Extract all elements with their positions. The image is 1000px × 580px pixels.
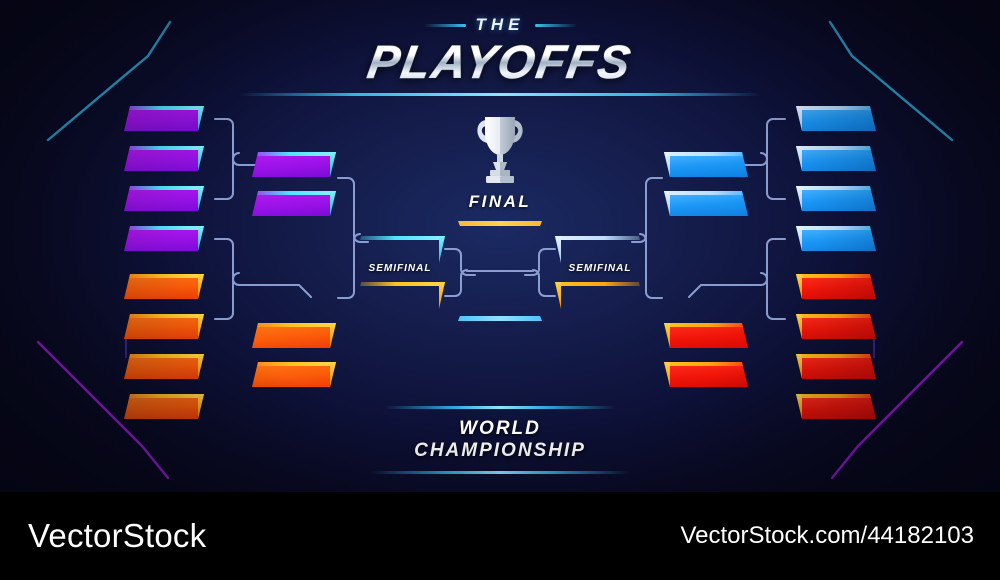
- bracket-slot-right-r1-2[interactable]: [796, 146, 876, 171]
- footer-line-2: CHAMPIONSHIP: [0, 440, 1000, 462]
- slot-highlight: [664, 191, 748, 195]
- slot-highlight: [796, 186, 876, 190]
- watermark-bar: VectorStock VectorStock.com/44182103: [0, 492, 1000, 580]
- bracket-slot-right-r1-5[interactable]: [796, 274, 876, 299]
- bracket-slot-left-r2-1[interactable]: [252, 152, 336, 177]
- slot-highlight: [124, 354, 204, 358]
- bracket-slot-left-r1-6[interactable]: [124, 314, 204, 339]
- slot-highlight: [355, 282, 445, 286]
- slot-highlight: [796, 226, 876, 230]
- bracket-slot-left-r1-4[interactable]: [124, 226, 204, 251]
- bracket-slot-left-r2-3[interactable]: [252, 323, 336, 348]
- title-pre-row: THE: [0, 14, 1000, 36]
- slot-highlight: [796, 274, 876, 278]
- watermark-brand: VectorStock: [28, 517, 206, 555]
- slot-highlight: [124, 314, 204, 318]
- slot-highlight: [458, 221, 542, 226]
- bracket-slot-right-r2-4[interactable]: [664, 362, 748, 387]
- page-title: PLAYOFFS: [0, 34, 1000, 89]
- slot-highlight: [124, 226, 204, 230]
- bracket-slot-right-r1-3[interactable]: [796, 186, 876, 211]
- bracket-slot-right-r1-4[interactable]: [796, 226, 876, 251]
- title-block: THE PLAYOFFS: [0, 14, 1000, 96]
- semifinal-left-slot-bottom[interactable]: [355, 282, 445, 309]
- slot-highlight: [124, 106, 204, 110]
- bracket-slot-left-r2-4[interactable]: [252, 362, 336, 387]
- semifinal-right-slot-top[interactable]: [555, 236, 645, 263]
- slot-highlight: [555, 282, 645, 286]
- title-rule-right: [535, 24, 577, 27]
- slot-highlight: [796, 354, 876, 358]
- slot-highlight: [124, 394, 204, 398]
- final-slot-bottom[interactable]: [458, 285, 542, 321]
- semifinal-left-slot-top[interactable]: [355, 236, 445, 263]
- final-slot-top[interactable]: [458, 221, 542, 257]
- bracket-slot-right-r1-1[interactable]: [796, 106, 876, 131]
- slot-highlight: [124, 274, 204, 278]
- slot-highlight: [252, 152, 336, 156]
- slot-highlight: [458, 316, 542, 321]
- bracket-slot-left-r2-2[interactable]: [252, 191, 336, 216]
- slot-highlight: [796, 394, 876, 398]
- bracket-slot-left-r1-3[interactable]: [124, 186, 204, 211]
- watermark-url: VectorStock.com/44182103: [680, 522, 974, 550]
- bracket-slot-right-r2-3[interactable]: [664, 323, 748, 348]
- slot-highlight: [252, 323, 336, 327]
- slot-highlight: [252, 362, 336, 366]
- slot-highlight: [796, 314, 876, 318]
- slot-highlight: [124, 146, 204, 150]
- playoffs-poster: THE PLAYOFFS: [0, 0, 1000, 492]
- slot-highlight: [124, 186, 204, 190]
- bracket-slot-left-r1-5[interactable]: [124, 274, 204, 299]
- slot-highlight: [664, 323, 748, 327]
- bracket-slot-left-r1-7[interactable]: [124, 354, 204, 379]
- bracket-slot-left-r1-1[interactable]: [124, 106, 204, 131]
- title-underline: [240, 93, 760, 96]
- slot-highlight: [664, 362, 748, 366]
- footer-line-1: WORLD: [0, 418, 1000, 440]
- title-pre-text: THE: [476, 15, 525, 35]
- trophy-icon: [469, 108, 531, 186]
- semifinal-left-label: SEMIFINAL: [355, 263, 445, 274]
- bracket-slot-right-r1-6[interactable]: [796, 314, 876, 339]
- footer-block: WORLD CHAMPIONSHIP: [0, 406, 1000, 474]
- bracket-slot-right-r2-2[interactable]: [664, 191, 748, 216]
- slot-highlight: [664, 152, 748, 156]
- bracket-slot-left-r1-2[interactable]: [124, 146, 204, 171]
- footer-rule-top: [385, 406, 615, 409]
- slot-highlight: [555, 236, 645, 240]
- bracket-slot-right-r1-7[interactable]: [796, 354, 876, 379]
- slot-highlight: [796, 146, 876, 150]
- semifinal-right-label: SEMIFINAL: [555, 263, 645, 274]
- slot-highlight: [796, 106, 876, 110]
- footer-rule-bottom: [370, 471, 630, 474]
- slot-highlight: [355, 236, 445, 240]
- bracket-slot-right-r2-1[interactable]: [664, 152, 748, 177]
- title-rule-left: [424, 24, 466, 27]
- slot-highlight: [252, 191, 336, 195]
- semifinal-right-slot-bottom[interactable]: [555, 282, 645, 309]
- poster-stage: THE PLAYOFFS: [0, 0, 1000, 580]
- final-label: FINAL: [440, 192, 560, 212]
